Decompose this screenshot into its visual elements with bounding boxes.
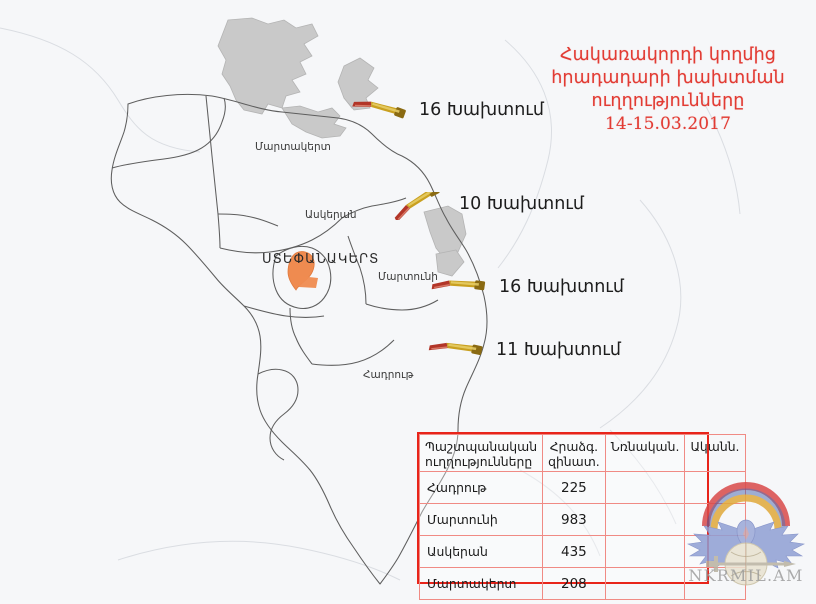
poster-title: Հակառակորդի կողմից հրադադարի խախտման ուղ… — [520, 44, 816, 135]
table-header-row: Պաշտպանական ուղղությունները Հրաձգ. զինատ… — [420, 435, 746, 472]
map-label-martakert: Մարտակերտ — [255, 141, 331, 153]
col-header-mine: Ականն. — [685, 435, 745, 472]
title-line-1: Հակառակորդի կողմից — [520, 44, 816, 67]
bullet-icon — [348, 98, 410, 122]
col-header-firearms: Հրաձգ. զինատ. — [543, 435, 606, 472]
map-label-hadrut: Հադրութ — [363, 369, 413, 381]
map-label-stepanakert: ՍՏԵՓԱՆԱԿԵՐՏ — [262, 252, 379, 267]
title-line-2: հրադադարի խախտման — [520, 67, 816, 90]
callout-askeran: 10 Խախտում — [388, 192, 584, 216]
cell-grenade — [605, 504, 685, 536]
callout-label: 16 Խախտում — [419, 100, 544, 120]
callout-label: 11 Խախտում — [496, 340, 621, 360]
cell-firearms: 208 — [543, 568, 606, 600]
cell-grenade — [605, 472, 685, 504]
bullet-icon — [428, 275, 490, 299]
cell-firearms: 435 — [543, 536, 606, 568]
callout-martuni: 16 Խախտում — [428, 275, 624, 299]
cell-direction: Մարտունի — [420, 504, 543, 536]
bullet-icon — [388, 192, 450, 216]
watermark-text: NKRMIL.AM — [676, 566, 816, 585]
title-date-range: 14-15.03.2017 — [520, 112, 816, 135]
cell-grenade — [605, 536, 685, 568]
callout-hadrut: 11 Խախտում — [425, 338, 621, 362]
callout-martakert: 16 Խախտում — [348, 98, 544, 122]
callout-label: 16 Խախտում — [499, 277, 624, 297]
title-line-3: ուղղությունները — [520, 90, 816, 113]
cell-firearms: 225 — [543, 472, 606, 504]
col-header-direction: Պաշտպանական ուղղությունները — [420, 435, 543, 472]
map-label-askeran: Ասկերան — [305, 209, 357, 221]
cell-firearms: 983 — [543, 504, 606, 536]
violations-table: Պաշտպանական ուղղությունները Հրաձգ. զինատ… — [417, 432, 709, 584]
cell-direction: Հադրութ — [420, 472, 543, 504]
poster-canvas: Մարտակերտ Ասկերան Մարտունի Հադրութ ՍՏԵՓԱ… — [0, 0, 816, 600]
cell-direction: Մարտակերտ — [420, 568, 543, 600]
col-header-grenade: Նռնական. — [605, 435, 685, 472]
cell-grenade — [605, 568, 685, 600]
callout-label: 10 Խախտում — [459, 194, 584, 214]
cell-direction: Ասկերան — [420, 536, 543, 568]
bullet-icon — [425, 338, 487, 362]
